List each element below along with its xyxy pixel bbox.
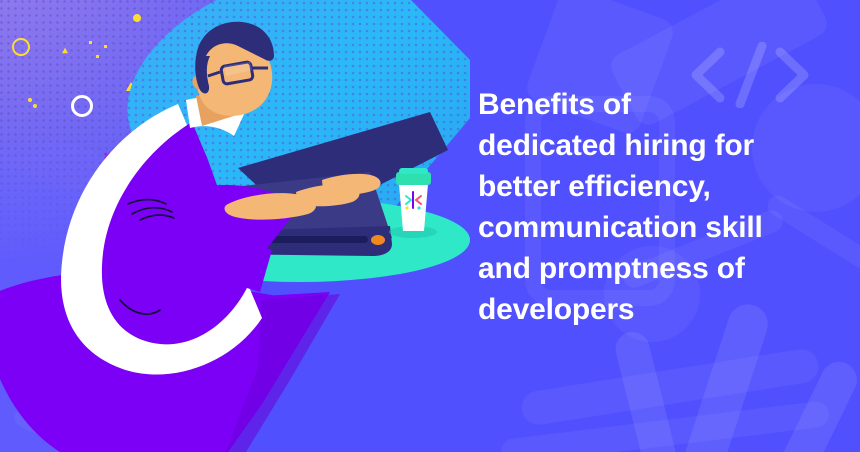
promo-banner: ✦ ✖ ✦ ✖ [0, 0, 860, 452]
page-title: Benefits of dedicated hiring for better … [478, 84, 848, 330]
developer-illustration [0, 0, 470, 452]
